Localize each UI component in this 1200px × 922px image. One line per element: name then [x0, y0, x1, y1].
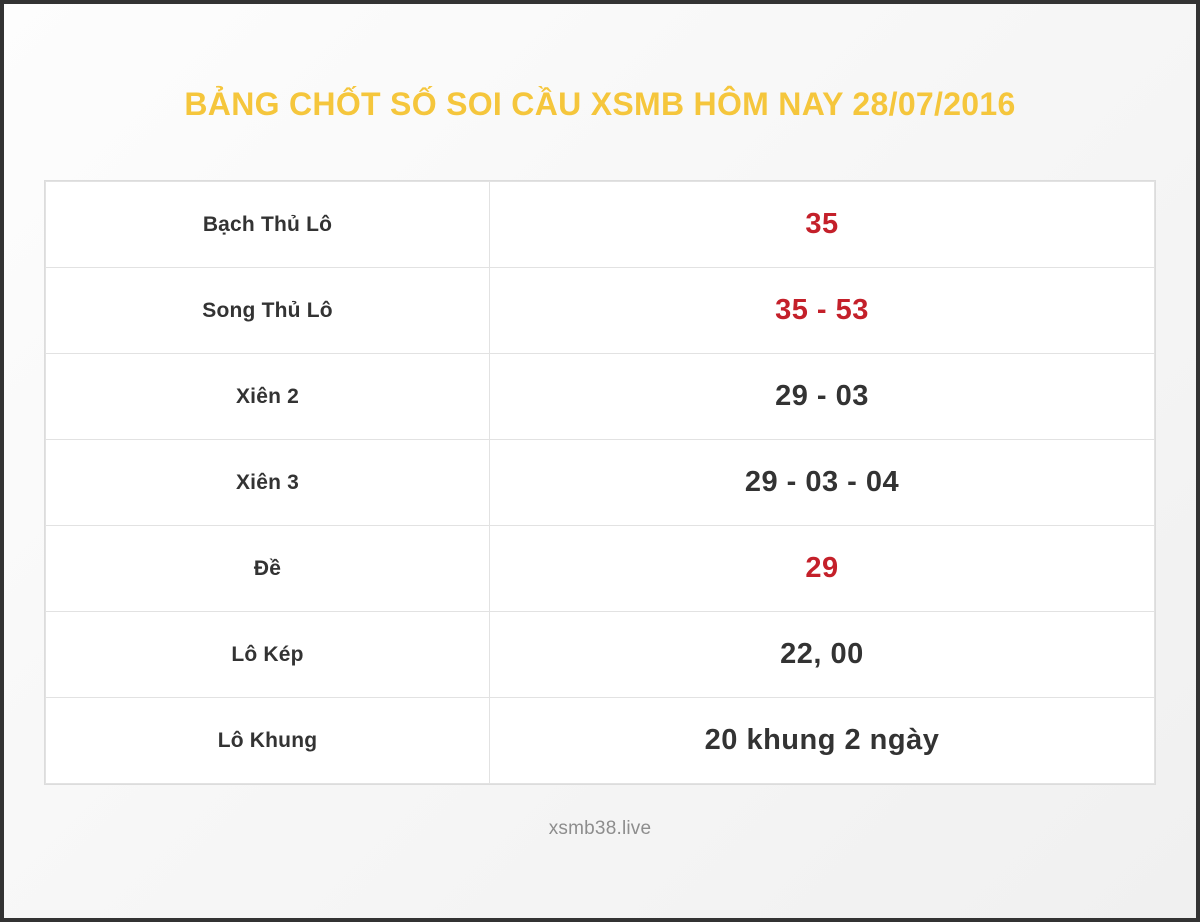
table-row: Lô Kép 22, 00 [46, 612, 1155, 698]
table-row: Lô Khung 20 khung 2 ngày [46, 698, 1155, 784]
site-watermark: xsmb38.live [549, 818, 652, 840]
row-label: Song Thủ Lô [46, 268, 490, 354]
table-row: Đề 29 [46, 526, 1155, 612]
row-value: 35 [490, 182, 1155, 268]
table-row: Xiên 3 29 - 03 - 04 [46, 440, 1155, 526]
footer-block: xsmb38.live [4, 785, 1196, 840]
row-value: 22, 00 [490, 612, 1155, 698]
chot-so-table-body: Bạch Thủ Lô 35 Song Thủ Lô 35 - 53 Xiên … [46, 182, 1155, 784]
row-value: 29 - 03 - 04 [490, 440, 1155, 526]
chot-so-table-container: Bạch Thủ Lô 35 Song Thủ Lô 35 - 53 Xiên … [44, 180, 1156, 785]
table-row: Xiên 2 29 - 03 [46, 354, 1155, 440]
table-row: Song Thủ Lô 35 - 53 [46, 268, 1155, 354]
row-label: Xiên 3 [46, 440, 490, 526]
page-frame: BẢNG CHỐT SỐ SOI CẦU XSMB HÔM NAY 28/07/… [0, 0, 1200, 922]
table-row: Bạch Thủ Lô 35 [46, 182, 1155, 268]
page-title: BẢNG CHỐT SỐ SOI CẦU XSMB HÔM NAY 28/07/… [184, 86, 1015, 123]
row-label: Lô Khung [46, 698, 490, 784]
row-value: 35 - 53 [490, 268, 1155, 354]
chot-so-table: Bạch Thủ Lô 35 Song Thủ Lô 35 - 53 Xiên … [45, 181, 1155, 784]
title-block: BẢNG CHỐT SỐ SOI CẦU XSMB HÔM NAY 28/07/… [4, 4, 1196, 180]
row-label: Lô Kép [46, 612, 490, 698]
row-value: 20 khung 2 ngày [490, 698, 1155, 784]
row-label: Bạch Thủ Lô [46, 182, 490, 268]
row-value: 29 [490, 526, 1155, 612]
row-value: 29 - 03 [490, 354, 1155, 440]
row-label: Đề [46, 526, 490, 612]
row-label: Xiên 2 [46, 354, 490, 440]
